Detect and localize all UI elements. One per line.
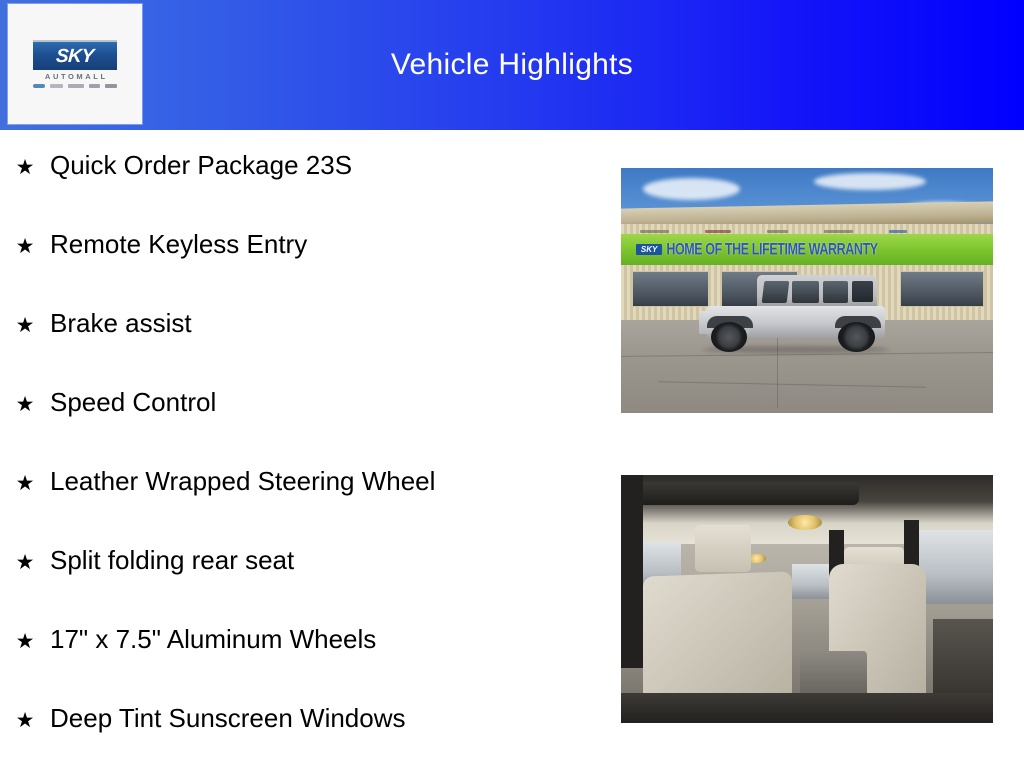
star-bullet-icon: ★ [14, 157, 36, 178]
feature-label: Leather Wrapped Steering Wheel [50, 468, 435, 494]
showroom-window [900, 271, 984, 307]
banner-sky-badge: SKY [636, 244, 662, 256]
list-item: ★ Deep Tint Sunscreen Windows [14, 705, 604, 784]
page-title: Vehicle Highlights [0, 0, 1024, 130]
star-bullet-icon: ★ [14, 710, 36, 731]
brand-mark-4-icon [89, 84, 100, 88]
feature-label: Split folding rear seat [50, 547, 294, 573]
list-item: ★ Remote Keyless Entry [14, 231, 604, 310]
feature-label: Brake assist [50, 310, 192, 336]
brand-logo-ram-icon [824, 230, 853, 233]
content-area: ★ Quick Order Package 23S ★ Remote Keyle… [0, 130, 1024, 768]
interior-floor [621, 693, 993, 723]
feature-label: 17" x 7.5" Aluminum Wheels [50, 626, 376, 652]
feature-label: Quick Order Package 23S [50, 152, 352, 178]
brand-mark-2-icon [50, 84, 63, 88]
vehicle-windshield [762, 281, 790, 303]
star-bullet-icon: ★ [14, 473, 36, 494]
brand-logo-sky-icon [889, 230, 908, 233]
banner-text: HOME OF THE LIFETIME WARRANTY [666, 240, 993, 259]
brand-mark-3-icon [68, 84, 84, 88]
brand-logos-strip [33, 84, 117, 88]
feature-label: Remote Keyless Entry [50, 231, 307, 257]
star-bullet-icon: ★ [14, 631, 36, 652]
rear-seat-headrest [695, 525, 751, 572]
feature-label: Speed Control [50, 389, 216, 415]
vehicle-interior-photo[interactable] [621, 475, 993, 723]
interior-side-window [919, 530, 993, 604]
brand-logo-dodge-icon [705, 230, 732, 233]
vehicle-front-wheel [711, 322, 748, 352]
sky-badge-icon: SKY [33, 40, 117, 70]
list-item: ★ Brake assist [14, 310, 604, 389]
dealer-logo[interactable]: SKY AUTOMALL [8, 4, 142, 124]
star-bullet-icon: ★ [14, 552, 36, 573]
star-bullet-icon: ★ [14, 315, 36, 336]
sky-badge-label: SKY [56, 47, 95, 66]
brand-logo-chrysler-icon [640, 230, 669, 233]
automall-label: AUTOMALL [42, 73, 107, 81]
brand-mark-1-icon [33, 84, 45, 88]
showroom-window [632, 271, 708, 307]
list-item: ★ Quick Order Package 23S [14, 152, 604, 231]
star-bullet-icon: ★ [14, 236, 36, 257]
interior-roll-bar [628, 482, 859, 504]
feature-label: Deep Tint Sunscreen Windows [50, 705, 406, 731]
vehicle-exterior-photo[interactable]: SKY HOME OF THE LIFETIME WARRANTY [621, 168, 993, 413]
brand-logo-jeep-icon [767, 230, 788, 233]
list-item: ★ Speed Control [14, 389, 604, 468]
dome-light-icon [788, 515, 821, 530]
logo-inner: SKY AUTOMALL [33, 40, 117, 88]
vehicle-rear-wheel [838, 322, 875, 352]
vehicle-highlights-list: ★ Quick Order Package 23S ★ Remote Keyle… [14, 152, 604, 784]
door-panel [933, 619, 993, 703]
star-bullet-icon: ★ [14, 394, 36, 415]
cloud-shape [814, 173, 926, 190]
jeep-wrangler-vehicle [699, 273, 892, 351]
vehicle-rear-window [823, 281, 848, 303]
list-item: ★ Split folding rear seat [14, 547, 604, 626]
page-header: Vehicle Highlights SKY AUTOMALL [0, 0, 1024, 130]
brand-mark-5-icon [105, 84, 117, 88]
cloud-shape [643, 178, 740, 200]
list-item: ★ Leather Wrapped Steering Wheel [14, 468, 604, 547]
warranty-banner: SKY HOME OF THE LIFETIME WARRANTY [621, 234, 993, 265]
list-item: ★ 17" x 7.5" Aluminum Wheels [14, 626, 604, 705]
vehicle-cargo-window [852, 281, 873, 301]
vehicle-front-window [792, 281, 819, 303]
interior-pillar [621, 475, 643, 668]
